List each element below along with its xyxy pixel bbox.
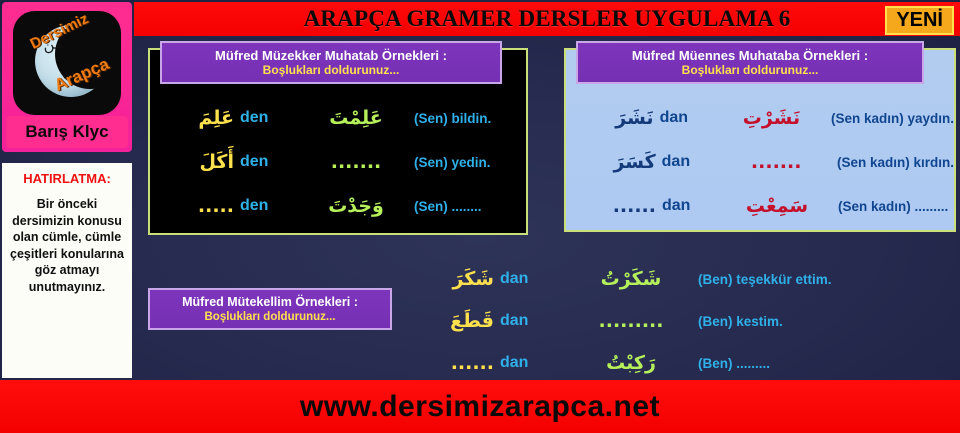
exercise-row: ...... dan سَمِعْتِ (Sen kadın) ........… — [566, 184, 954, 228]
caption-mutekellim: Müfred Mütekellim Örnekleri : Boşlukları… — [148, 288, 392, 330]
particle: dan — [660, 109, 718, 127]
verb-root: قَطَعَ — [404, 310, 500, 332]
new-badge: YENİ — [885, 6, 954, 35]
answer-blank: رَكِبْتُ — [570, 352, 692, 374]
answer-blank[interactable]: عَلِمْتَ — [304, 107, 408, 129]
particle: dan — [662, 153, 722, 171]
translation[interactable]: (Ben) ......... — [692, 356, 924, 371]
particle: dan — [662, 197, 722, 215]
title-bar: ARAPÇA GRAMER DERSLER UYGULAMA 6 YENİ — [134, 2, 960, 36]
translation: (Sen) bildin. — [408, 111, 526, 126]
particle: den — [240, 109, 304, 127]
verb-root: أَكَلَ — [150, 151, 240, 173]
answer-blank: وَجَدْتَ — [304, 195, 408, 217]
caption-subtitle: Boşlukları doldurunuz... — [168, 63, 494, 78]
caption-title: Müfred Müzekker Muhatab Örnekleri : — [168, 48, 494, 63]
slide-canvas: من غربية Dersimiz Arapça Barış Klyc ARAP… — [0, 0, 960, 433]
translation[interactable]: (Sen kadın) ......... — [832, 199, 954, 214]
answer-blank[interactable]: نَشَرْتِ — [718, 107, 825, 129]
answer-blank[interactable]: ....... — [304, 151, 408, 173]
author-name: Barış Klyc — [6, 116, 128, 148]
translation: (Ben) kestim. — [692, 314, 924, 329]
answer-blank[interactable]: ......... — [570, 310, 692, 332]
translation: (Sen) yedin. — [408, 155, 526, 170]
translation[interactable]: (Sen) ........ — [408, 199, 526, 214]
exercise-rows-muzekker: عَلِمَ den عَلِمْتَ (Sen) bildin. أَكَلَ… — [150, 96, 526, 228]
exercise-rows-muennes: نَشَرَ dan نَشَرْتِ (Sen kadın) yaydın. … — [566, 96, 954, 228]
caption-title: Müfred Müennes Muhataba Örnekleri : — [584, 48, 916, 63]
website-url[interactable]: www.dersimizarapca.net — [300, 390, 660, 424]
reminder-heading: HATIRLATMA: — [8, 171, 126, 186]
exercise-row: كَسَرَ dan ....... (Sen kadın) kırdın. — [566, 140, 954, 184]
translation: (Ben) teşekkür ettim. — [692, 272, 924, 287]
logo-panel: من غربية Dersimiz Arapça Barış Klyc — [2, 2, 132, 152]
exercise-rows-mutekellim: شَكَرَ dan شَكَرْتُ (Ben) teşekkür ettim… — [404, 258, 924, 384]
verb-root: عَلِمَ — [150, 107, 240, 129]
verb-root[interactable]: ...... — [404, 352, 500, 374]
exercise-row: قَطَعَ dan ......... (Ben) kestim. — [404, 300, 924, 342]
verb-root: نَشَرَ — [566, 107, 660, 129]
reminder-body: Bir önceki dersimizin konusu olan cümle,… — [8, 196, 126, 295]
footer-bar: www.dersimizarapca.net — [0, 380, 960, 433]
exercise-row: أَكَلَ den ....... (Sen) yedin. — [150, 140, 526, 184]
logo-badge: من غربية Dersimiz Arapça — [13, 11, 121, 115]
exercise-row: ..... den وَجَدْتَ (Sen) ........ — [150, 184, 526, 228]
reminder-panel: HATIRLATMA: Bir önceki dersimizin konusu… — [2, 163, 132, 378]
answer-blank[interactable]: ....... — [721, 151, 831, 173]
exercise-row: نَشَرَ dan نَشَرْتِ (Sen kadın) yaydın. — [566, 96, 954, 140]
caption-muennes: Müfred Müennes Muhataba Örnekleri : Boşl… — [576, 41, 924, 84]
particle: dan — [500, 312, 570, 330]
verb-root: شَكَرَ — [404, 268, 500, 290]
caption-subtitle: Boşlukları doldurunuz... — [584, 63, 916, 78]
translation: (Sen kadın) kırdın. — [831, 155, 954, 170]
answer-blank[interactable]: شَكَرْتُ — [570, 268, 692, 290]
caption-subtitle: Boşlukları doldurunuz... — [156, 310, 384, 325]
particle: den — [240, 197, 304, 215]
exercise-row: ...... dan رَكِبْتُ (Ben) ......... — [404, 342, 924, 384]
particle: den — [240, 153, 304, 171]
page-title: ARAPÇA GRAMER DERSLER UYGULAMA 6 — [304, 6, 791, 32]
verb-root: كَسَرَ — [566, 151, 662, 173]
particle: dan — [500, 354, 570, 372]
exercise-row: عَلِمَ den عَلِمْتَ (Sen) bildin. — [150, 96, 526, 140]
verb-root[interactable]: ...... — [566, 195, 662, 217]
caption-muzekker: Müfred Müzekker Muhatab Örnekleri : Boşl… — [160, 41, 502, 84]
exercise-row: شَكَرَ dan شَكَرْتُ (Ben) teşekkür ettim… — [404, 258, 924, 300]
answer-blank: سَمِعْتِ — [722, 195, 832, 217]
verb-root[interactable]: ..... — [150, 195, 240, 217]
particle: dan — [500, 270, 570, 288]
translation: (Sen kadın) yaydın. — [825, 111, 954, 126]
caption-title: Müfred Mütekellim Örnekleri : — [156, 295, 384, 310]
